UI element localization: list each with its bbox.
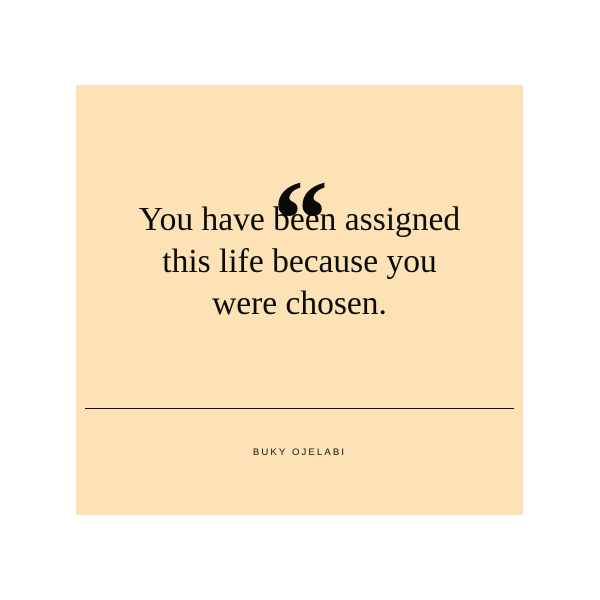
quote-line: You have been assigned: [90, 199, 509, 241]
quote-line: were chosen.: [90, 283, 509, 325]
quote-card: “ You have been assigned this life becau…: [76, 85, 523, 515]
quote-text: You have been assigned this life because…: [90, 199, 509, 325]
quote-graphic-canvas: “ You have been assigned this life becau…: [0, 0, 600, 600]
divider-rule: [85, 408, 514, 409]
quote-line: this life because you: [90, 241, 509, 283]
quote-author-attribution: BUKY OJELABI: [76, 447, 523, 458]
